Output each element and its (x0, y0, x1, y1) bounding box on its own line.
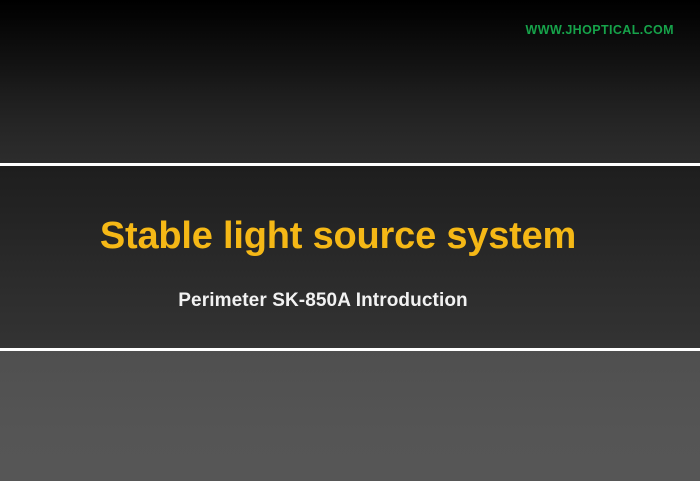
title-band: Stable light source system Perimeter SK-… (0, 166, 700, 348)
website-url-label: WWW.JHOPTICAL.COM (526, 23, 674, 37)
slide-subtitle: Perimeter SK-850A Introduction (0, 289, 646, 313)
slide-title: Stable light source system (0, 214, 676, 258)
presentation-slide: WWW.JHOPTICAL.COM Stable light source sy… (0, 0, 700, 481)
footer-band (0, 351, 700, 481)
header-band: WWW.JHOPTICAL.COM (0, 0, 700, 163)
